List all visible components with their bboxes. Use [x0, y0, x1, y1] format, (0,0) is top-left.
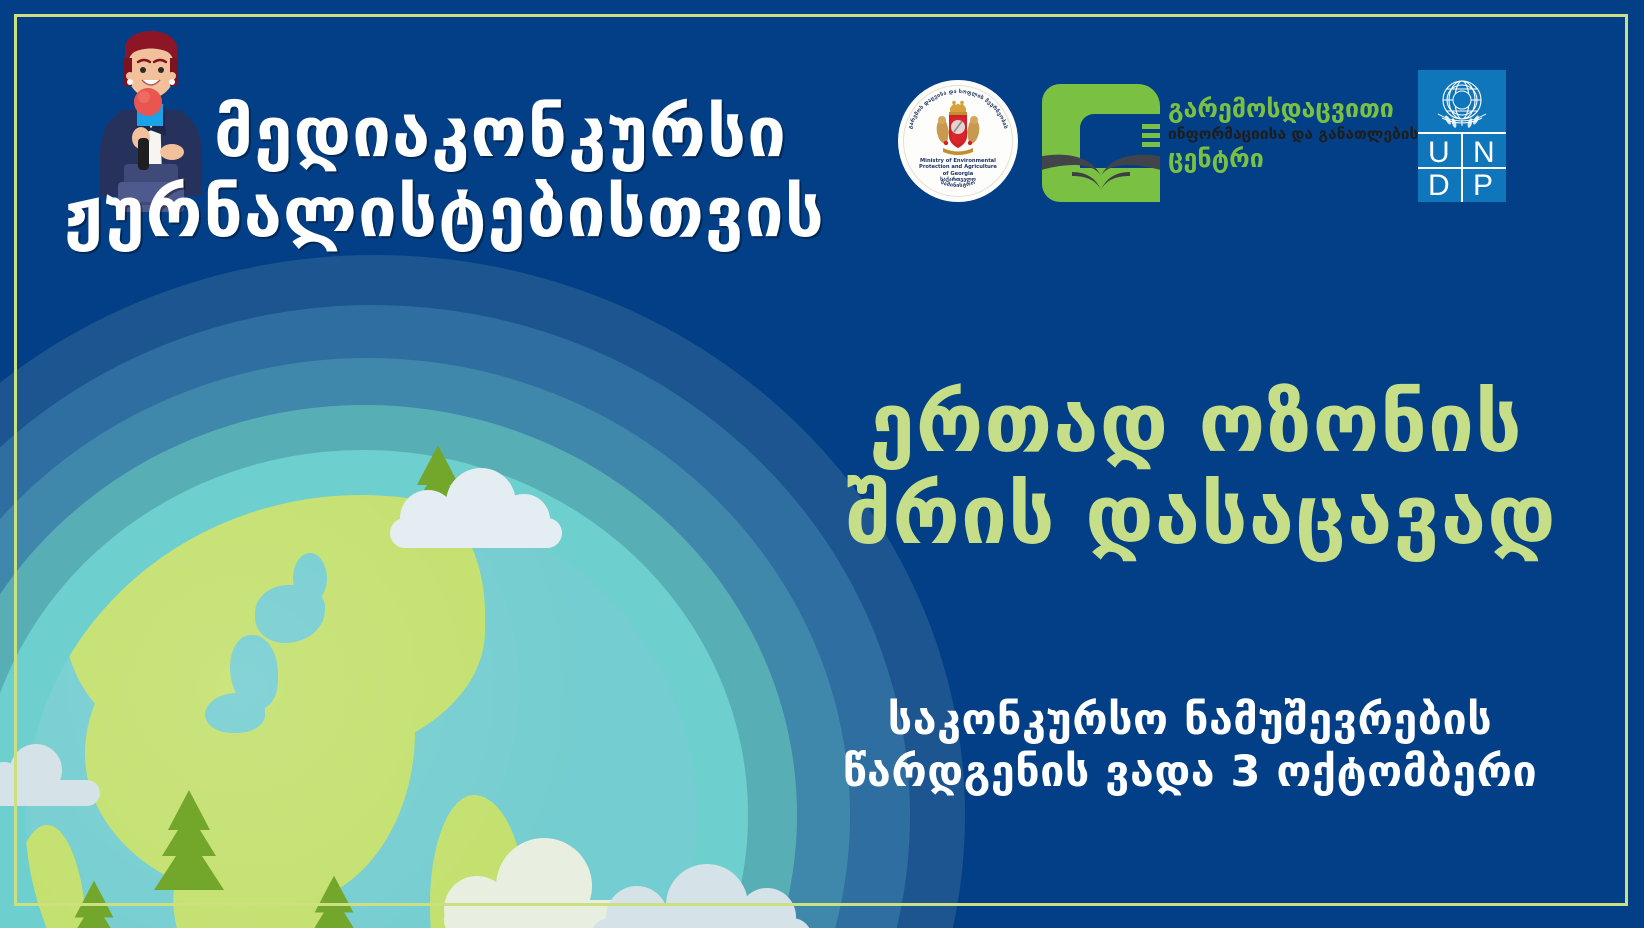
undp-logo: U N D P — [1418, 70, 1506, 202]
cloud-icon — [386, 468, 566, 548]
seal-label-line-4: საქართველო — [906, 177, 1010, 183]
eiec-line-1: გარემოსდაცვითი — [1168, 96, 1438, 121]
pine-tree-icon — [150, 790, 228, 910]
eiec-mark-icon — [1042, 80, 1160, 202]
eiec-logo: გარემოსდაცვითი ინფორმაციისა და განათლები… — [1042, 72, 1422, 212]
pine-tree-icon — [298, 875, 370, 928]
pine-tree-icon — [58, 880, 130, 928]
headline-block: ერთად ოზონის შრის დასაცავად — [846, 378, 1546, 562]
seal-label-line-2: Protection and Agriculture — [906, 164, 1010, 170]
undp-letter-n: N — [1473, 136, 1495, 170]
georgia-coat-of-arms-icon — [927, 100, 989, 158]
title-line-2: ჟურნალისტებისთვის — [64, 180, 814, 248]
title-block: მედიაკონკურსი ჟურნალისტებისთვის — [214, 100, 814, 247]
un-emblem-icon — [1418, 70, 1506, 132]
deadline-block: საკონკურსო ნამუშევრების წარდგენის ვადა 3… — [820, 694, 1560, 799]
headline-line-1: ერთად ოზონის — [846, 378, 1546, 470]
headline-line-2: შრის დასაცავად — [846, 470, 1546, 562]
title-line-1: მედიაკონკურსი — [214, 100, 814, 168]
eiec-line-2: ინფორმაციისა და განათლების — [1168, 125, 1438, 144]
logo-row: გარემოს დაცვისა და სოფლის მეურნეობის სამ… — [890, 62, 1630, 222]
cloud-icon — [0, 744, 104, 806]
ministry-of-environment-seal: გარემოს დაცვისა და სოფლის მეურნეობის სამ… — [898, 80, 1018, 202]
undp-letter-p: P — [1473, 169, 1493, 203]
cloud-icon — [584, 864, 814, 928]
deadline-line-2: წარდგენის ვადა 3 ოქტომბერი — [820, 746, 1560, 798]
undp-divider-vertical — [1461, 132, 1463, 202]
eiec-wordmark: გარემოსდაცვითი ინფორმაციისა და განათლები… — [1168, 96, 1438, 171]
poster-canvas: მედიაკონკურსი ჟურნალისტებისთვის ერთად ოზ… — [0, 0, 1644, 928]
deadline-line-1: საკონკურსო ნამუშევრების — [820, 694, 1560, 746]
eiec-line-3: ცენტრი — [1168, 146, 1438, 171]
undp-letter-d: D — [1428, 169, 1450, 203]
undp-letter-u: U — [1428, 136, 1450, 170]
seal-label: Ministry of Environmental Protection and… — [906, 158, 1010, 183]
